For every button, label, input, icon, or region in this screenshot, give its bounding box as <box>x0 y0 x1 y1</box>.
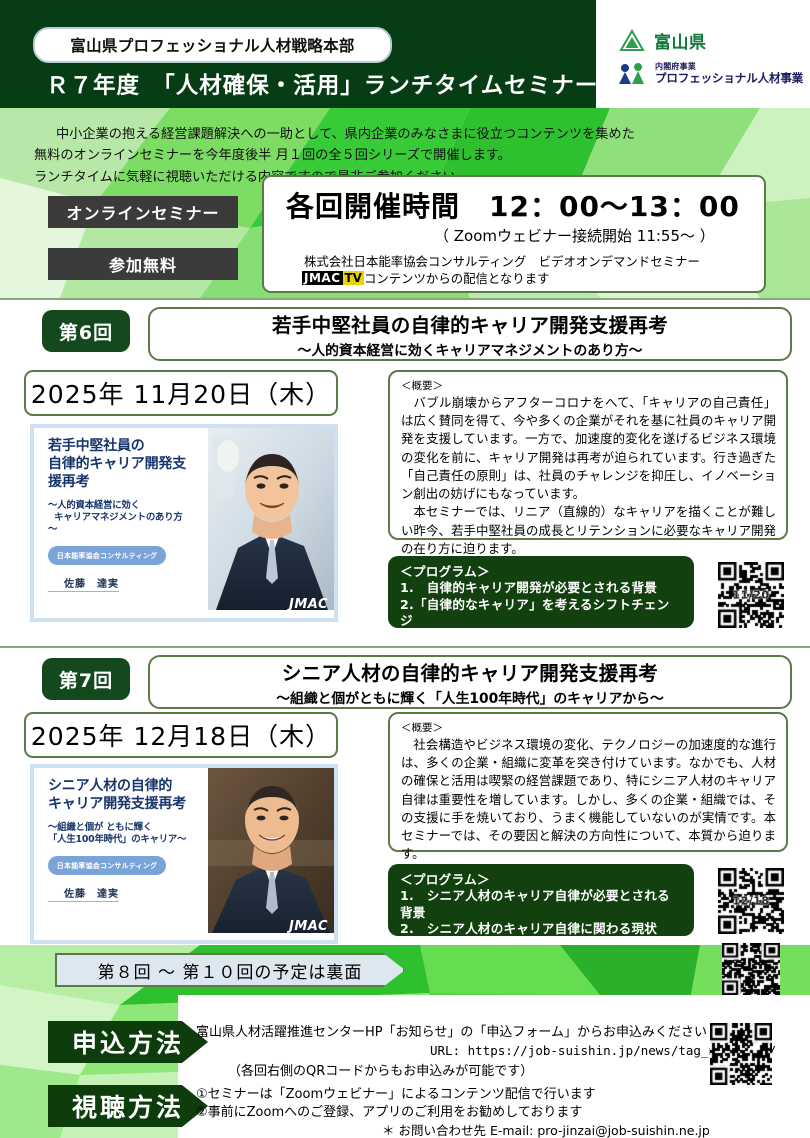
source-line-2-text: コンテンツからの配信となります <box>364 269 550 287</box>
summary-body-7: 社会構造やビジネス環境の変化、テクノロジーの加速度的な進行は、多くの企業・組織に… <box>401 736 776 864</box>
speaker-photo-6 <box>208 428 334 610</box>
time-sub-text: （ Zoomウェビナー接続開始 11:55〜 ） <box>434 225 715 246</box>
session-program-box-6: ＜プログラム＞ 1. 自律的キャリア開発が必要とされる背景 2.「自律的なキャリ… <box>388 556 694 628</box>
thumbnail-company-pill-6: 日本能率協会コンサルティング <box>48 546 166 565</box>
summary-para-1-7: 社会構造やビジネス環境の変化、テクノロジーの加速度的な進行は、多くの企業・組織に… <box>401 736 776 864</box>
session-title-7: シニア人材の自律的キャリア開発支援再考 <box>282 657 658 686</box>
watch-line-1: ①セミナーは「Zoomウェビナー」によるコンテンツ配信で行います <box>196 1085 596 1105</box>
session-divider <box>0 646 810 648</box>
session-divider <box>0 298 810 300</box>
pro-jinzai-main: プロフェッショナル人材事業 <box>655 72 803 85</box>
session-summary-box-6: ＜概要＞ バブル崩壊からアフターコロナをへて、「キャリアの自己責任」は広く賛同を… <box>388 370 788 540</box>
thumbnail-text-6: 若手中堅社員の自律的キャリア開発支援再考 〜人的資本経営に効く キャリアマネジメ… <box>34 428 208 618</box>
qr-code-6[interactable]: 11/20 <box>718 562 784 628</box>
session-subtitle-6: 〜人的資本経営に効くキャリアマネジメントのあり方〜 <box>298 339 643 359</box>
session-block-6: 第6回 若手中堅社員の自律的キャリア開発支援再考 〜人的資本経営に効くキャリアマ… <box>0 298 810 646</box>
thumbnail-subtitle-7: 〜組織と個が ともに輝く「人生100年時代」のキャリア〜 <box>48 822 208 846</box>
source-line-2: JMACTVコンテンツからの配信となります <box>302 269 549 287</box>
intro-line-1: 中小企業の抱える経営課題解決への一助として、県内企業のみなさまに役立つコンテンツ… <box>56 127 635 142</box>
logo-area: 富山県 内閣府事業 プロフェッショナル人材事業 <box>600 0 810 108</box>
two-people-icon <box>618 62 648 86</box>
toyama-logo: 富山県 <box>618 28 707 53</box>
session-date-7: 2025年 12月18日（木） <box>24 712 338 758</box>
page-header: 富山県プロフェッショナル人材戦略本部 Ｒ７年度 「人材確保・活用」ランチタイムセ… <box>0 0 810 108</box>
thumbnail-title-6: 若手中堅社員の自律的キャリア開発支援再考 <box>48 438 208 492</box>
thumbnail-watermark-7: JMAC <box>289 919 328 934</box>
session-title-box-7: シニア人材の自律的キャリア開発支援再考 〜組織と個がともに輝く「人生100年時代… <box>148 655 792 709</box>
summary-para-1-6: バブル崩壊からアフターコロナをへて、「キャリアの自己責任」は広く賛同を得て、今や… <box>401 394 776 503</box>
apply-line-3: （各回右側のQRコードからもお申込みが可能です） <box>228 1062 533 1082</box>
session-summary-box-7: ＜概要＞ 社会構造やビジネス環境の変化、テクノロジーの加速度的な進行は、多くの企… <box>388 712 788 852</box>
page-footer: 第８回 〜 第１０回の予定は裏面 申込方法 富山県人材活躍推進センターHP「お知… <box>0 945 810 1138</box>
program-item-7-1: 1. シニア人材のキャリア自律が必要とされる背景 <box>400 888 682 921</box>
qr-label-6: 11/20 <box>718 589 784 602</box>
session-subtitle-7: 〜組織と個がともに輝く「人生100年時代」のキャリアから〜 <box>276 687 664 707</box>
apply-method-label: 申込方法 <box>48 1021 208 1063</box>
session-block-7: 第7回 シニア人材の自律的キャリア開発支援再考 〜組織と個がともに輝く「人生10… <box>0 646 810 945</box>
program-item-6-1: 1. 自律的キャリア開発が必要とされる背景 <box>400 580 682 597</box>
thumbnail-watermark-6: JMAC <box>289 597 328 612</box>
session-program-box-7: ＜プログラム＞ 1. シニア人材のキャリア自律が必要とされる背景 2. シニア人… <box>388 864 694 936</box>
tag-online-seminar: オンラインセミナー <box>48 196 238 228</box>
program-item-7-2: 2. シニア人材のキャリア自律に関わる現状 <box>400 921 682 938</box>
pro-jinzai-logo: 内閣府事業 プロフェッショナル人材事業 <box>618 62 803 86</box>
thumbnail-title-7: シニア人材の自律的キャリア開発支援再考 <box>48 778 208 814</box>
tag-free-admission: 参加無料 <box>48 248 238 280</box>
program-item-6-2: 2.「自律的なキャリア」を考えるシフトチェンジ <box>400 597 682 630</box>
time-main-text: 各回開催時間 12：00〜13：00 <box>286 185 740 225</box>
session-thumbnail-7: シニア人材の自律的キャリア開発支援再考 〜組織と個が ともに輝く「人生100年時… <box>30 764 338 944</box>
thumbnail-photo-6: JMAC <box>208 428 334 618</box>
speaker-photo-7 <box>208 768 334 933</box>
next-sessions-banner: 第８回 〜 第１０回の予定は裏面 <box>55 953 405 987</box>
org-pill: 富山県プロフェッショナル人材戦略本部 <box>33 27 392 63</box>
toyama-mountain-icon <box>618 29 646 53</box>
session-thumbnail-6: 若手中堅社員の自律的キャリア開発支援再考 〜人的資本経営に効く キャリアマネジメ… <box>30 424 338 622</box>
thumbnail-speaker-7: 佐藤 達実 <box>48 885 119 902</box>
thumbnail-photo-7: JMAC <box>208 768 334 940</box>
thumbnail-speaker-6: 佐藤 達実 <box>48 575 119 592</box>
summary-heading-6: ＜概要＞ <box>401 378 776 393</box>
summary-body-6: バブル崩壊からアフターコロナをへて、「キャリアの自己責任」は広く賛同を得て、今や… <box>401 394 776 558</box>
source-line-1: 株式会社日本能率協会コンサルティング ビデオオンデマンドセミナー <box>304 252 700 270</box>
session-date-6: 2025年 11月20日（木） <box>24 370 338 416</box>
qr-code-apply[interactable] <box>710 1023 772 1085</box>
thumbnail-text-7: シニア人材の自律的キャリア開発支援再考 〜組織と個が ともに輝く「人生100年時… <box>34 768 208 940</box>
session-badge-6: 第6回 <box>42 310 130 352</box>
qr-code-7[interactable]: 12/18 <box>718 868 784 934</box>
flyer-page: 富山県プロフェッショナル人材戦略本部 Ｒ７年度 「人材確保・活用」ランチタイムセ… <box>0 0 810 1138</box>
program-heading-7: ＜プログラム＞ <box>400 869 682 888</box>
thumbnail-subtitle-6: 〜人的資本経営に効く キャリアマネジメントのあり方〜 <box>48 500 208 537</box>
watch-line-2: ②事前にZoomへのご登録、アプリのご利用をお勧めしております <box>196 1103 582 1123</box>
apply-line-1: 富山県人材活躍推進センターHP「お知らせ」の「申込フォーム」からお申込みください <box>196 1023 707 1043</box>
tv-badge: TV <box>343 271 364 285</box>
toyama-logo-label: 富山県 <box>654 28 707 53</box>
session-badge-7: 第7回 <box>42 658 130 700</box>
qr-label-7: 12/18 <box>718 895 784 908</box>
jmac-badge: JMAC <box>302 271 343 285</box>
summary-para-2-6: 本セミナーでは、リニア（直線的）なキャリアを描くことが難しい昨今、若手中堅社員の… <box>401 503 776 558</box>
qr-code-watch[interactable] <box>722 943 780 995</box>
session-title-6: 若手中堅社員の自律的キャリア開発支援再考 <box>272 309 668 338</box>
intro-line-2: 無料のオンラインセミナーを今年度後半 月１回の全５回シリーズで開催します。 <box>34 145 756 166</box>
contact-email-line: ＊ お問い合わせ先 E-mail: pro-jinzai@job-suishin… <box>382 1122 710 1138</box>
program-heading-6: ＜プログラム＞ <box>400 561 682 580</box>
pro-jinzai-text: 内閣府事業 プロフェッショナル人材事業 <box>655 63 803 84</box>
time-info-box: 各回開催時間 12：00〜13：00 （ Zoomウェビナー接続開始 11:55… <box>262 175 766 293</box>
intro-section: 中小企業の抱える経営課題解決への一助として、県内企業のみなさまに役立つコンテンツ… <box>0 108 810 298</box>
thumbnail-company-pill-7: 日本能率協会コンサルティング <box>48 856 166 875</box>
summary-heading-7: ＜概要＞ <box>401 720 776 735</box>
watch-method-label: 視聴方法 <box>48 1085 208 1127</box>
page-title: Ｒ７年度 「人材確保・活用」ランチタイムセミナー <box>46 68 591 100</box>
session-title-box-6: 若手中堅社員の自律的キャリア開発支援再考 〜人的資本経営に効くキャリアマネジメン… <box>148 307 792 361</box>
